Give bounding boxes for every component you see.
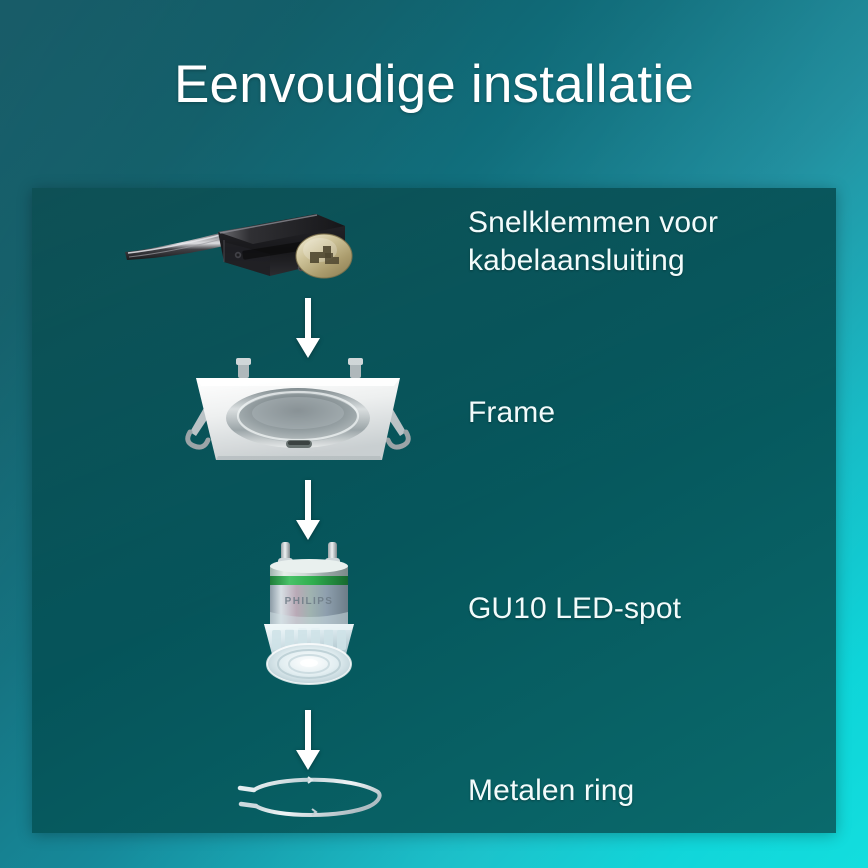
step-label-connector: Snelklemmen voor kabelaansluiting: [468, 204, 718, 281]
arrow-down-icon: [290, 710, 326, 772]
step-row-ring: Metalen ring: [32, 768, 836, 832]
step-row-lamp: PHILIPS: [32, 540, 836, 692]
square-downlight-frame-image: [172, 356, 422, 480]
step-label-frame: Frame: [468, 394, 555, 432]
step-label-ring: Metalen ring: [468, 772, 634, 810]
infographic-canvas: Eenvoudige installatie: [0, 0, 868, 868]
page-title: Eenvoudige installatie: [0, 56, 868, 114]
lamp-brand-text: PHILIPS: [285, 596, 334, 607]
step-label-lamp: GU10 LED-spot: [468, 590, 681, 628]
terminal-block-connector-image: [120, 196, 360, 302]
step-row-frame: Frame: [32, 356, 836, 486]
arrow-down-icon: [290, 480, 326, 542]
gu10-led-spot-image: PHILIPS: [240, 540, 380, 690]
steps-panel: Snelklemmen voor kabelaansluiting: [32, 188, 836, 833]
step-row-connector: Snelklemmen voor kabelaansluiting: [32, 188, 836, 316]
arrow-down-icon: [290, 298, 326, 360]
metal-spring-ring-image: [232, 768, 392, 828]
